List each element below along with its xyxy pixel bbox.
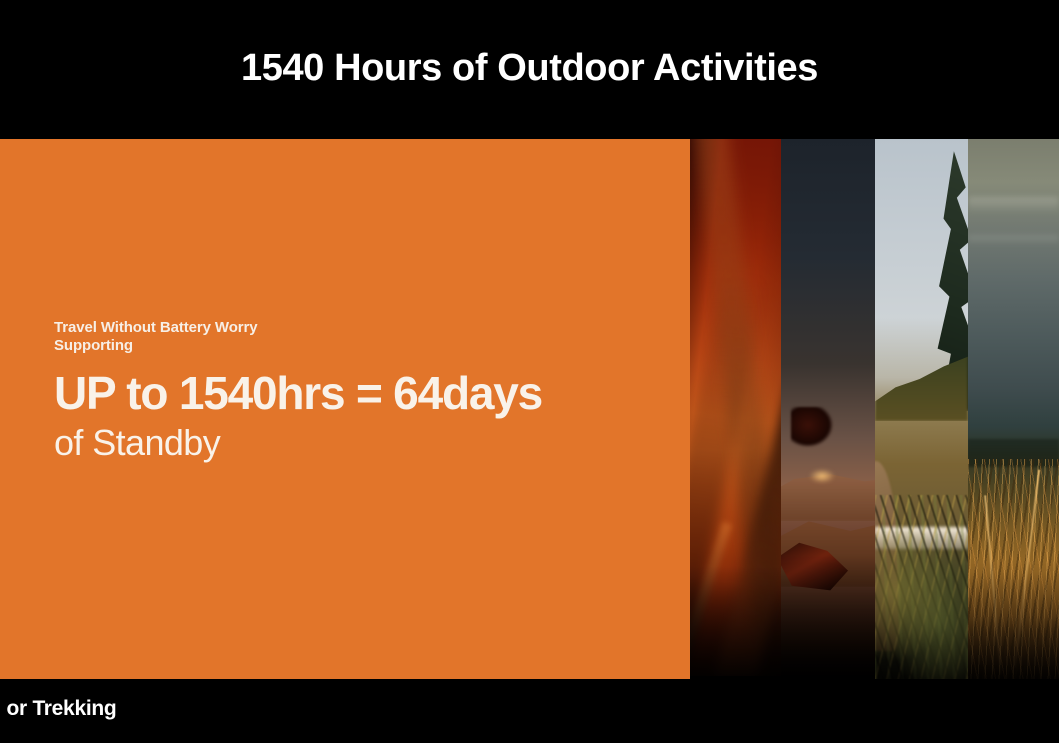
canyon-rider-silhouette bbox=[791, 407, 833, 447]
canyon-dusk-photo bbox=[781, 139, 875, 675]
tent-base-shadow bbox=[690, 566, 781, 676]
grass-cloud-band-upper bbox=[968, 197, 1059, 213]
hero-section: Travel Without Battery Worry Supporting … bbox=[0, 139, 1059, 679]
hero-orange-panel: Travel Without Battery Worry Supporting … bbox=[0, 139, 690, 679]
forest-foreground-brush bbox=[875, 531, 968, 681]
hero-eyebrow-line2: Supporting bbox=[54, 337, 654, 355]
forest-ridge-photo bbox=[875, 139, 968, 681]
grass-bottom-vignette bbox=[968, 561, 1059, 681]
canyon-sun-glow bbox=[809, 469, 835, 483]
hero-eyebrow-line1: Travel Without Battery Worry bbox=[54, 319, 654, 337]
grass-cloud-band-lower bbox=[968, 235, 1059, 245]
page-title: 1540 Hours of Outdoor Activities bbox=[241, 49, 818, 87]
golden-grass-photo bbox=[968, 139, 1059, 681]
hero-copy-block: Travel Without Battery Worry Supporting … bbox=[54, 319, 654, 462]
canyon-foreground-shadow bbox=[781, 555, 875, 675]
footer-caption: king or Trekking bbox=[0, 697, 116, 721]
tent-interior-photo bbox=[690, 139, 781, 676]
footer-band: king or Trekking bbox=[0, 679, 1059, 743]
hero-subhead: of Standby bbox=[54, 423, 654, 463]
hero-headline: UP to 1540hrs = 64days bbox=[54, 369, 654, 419]
slide-canvas: 1540 Hours of Outdoor Activities Travel … bbox=[0, 0, 1059, 743]
header-band: 1540 Hours of Outdoor Activities bbox=[0, 0, 1059, 139]
